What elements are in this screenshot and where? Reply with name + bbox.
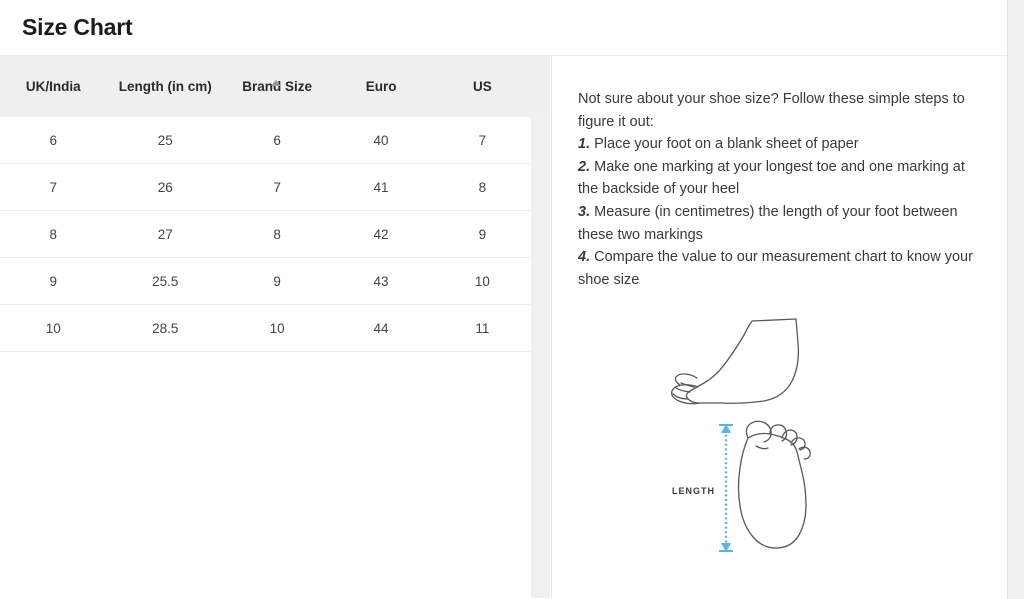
size-guide-text: Not sure about your shoe size? Follow th…: [578, 88, 979, 291]
size-guide-panel: Not sure about your shoe size? Follow th…: [552, 56, 1007, 598]
scrollbar-header-cap: [532, 56, 550, 117]
step-2-number: 2.: [578, 159, 590, 175]
table-row[interactable]: 7 26 7 41 8: [0, 164, 533, 211]
cell-us: 10: [432, 258, 533, 305]
cell-length: 25.5: [107, 258, 224, 305]
cell-euro: 44: [330, 305, 431, 352]
column-header-length: Length (in cm): [107, 56, 224, 117]
step-4-number: 4.: [578, 249, 590, 265]
table-row[interactable]: 9 25.5 9 43 10: [0, 258, 533, 305]
step-4-text: Compare the value to our measurement cha…: [578, 249, 973, 288]
cell-uk-india: 7: [0, 164, 107, 211]
page-title: Size Chart: [22, 16, 132, 39]
step-1-text: Place your foot on a blank sheet of pape…: [594, 136, 858, 152]
cell-us: 9: [432, 211, 533, 258]
cell-length: 27: [107, 211, 224, 258]
modal-body: UK/India Length (in cm) Brand Size Euro …: [0, 56, 1007, 598]
modal-header: Size Chart: [0, 0, 1007, 56]
cell-brand-size: 9: [224, 258, 331, 305]
step-3-text: Measure (in centimetres) the length of y…: [578, 204, 958, 243]
column-header-brand-size: Brand Size: [224, 56, 331, 117]
cell-brand-size: 6: [224, 117, 331, 164]
size-chart-page: Size Chart UK/India Length (in cm) Brand…: [0, 0, 1024, 599]
table-body: 6 25 6 40 7 7 26 7 41 8: [0, 117, 533, 352]
cell-uk-india: 6: [0, 117, 107, 164]
length-label: LENGTH: [672, 486, 715, 496]
foot-side-view-illustration: [664, 313, 894, 418]
size-table-panel: UK/India Length (in cm) Brand Size Euro …: [0, 56, 552, 598]
table-header-row: UK/India Length (in cm) Brand Size Euro …: [0, 56, 533, 117]
table-row[interactable]: 8 27 8 42 9: [0, 211, 533, 258]
size-chart-modal: Size Chart UK/India Length (in cm) Brand…: [0, 0, 1008, 599]
cell-length: 28.5: [107, 305, 224, 352]
step-1-number: 1.: [578, 136, 590, 152]
foot-measurement-diagram: LENGTH: [578, 313, 979, 558]
column-header-uk-india: UK/India: [0, 56, 107, 117]
cell-us: 7: [432, 117, 533, 164]
cell-length: 26: [107, 164, 224, 211]
size-guide-intro: Not sure about your shoe size? Follow th…: [578, 91, 965, 130]
cell-uk-india: 10: [0, 305, 107, 352]
table-scrollbar[interactable]: [531, 112, 550, 598]
column-header-us: US: [432, 56, 533, 117]
table-row[interactable]: 6 25 6 40 7: [0, 117, 533, 164]
cell-euro: 42: [330, 211, 431, 258]
step-2-text: Make one marking at your longest toe and…: [578, 159, 965, 198]
cell-uk-india: 9: [0, 258, 107, 305]
cell-brand-size: 8: [224, 211, 331, 258]
cell-us: 8: [432, 164, 533, 211]
cell-euro: 40: [330, 117, 431, 164]
cell-euro: 43: [330, 258, 431, 305]
step-3-number: 3.: [578, 204, 590, 220]
cell-uk-india: 8: [0, 211, 107, 258]
cell-length: 25: [107, 117, 224, 164]
cell-brand-size: 7: [224, 164, 331, 211]
table-row[interactable]: 10 28.5 10 44 11: [0, 305, 533, 352]
cell-euro: 41: [330, 164, 431, 211]
cell-us: 11: [432, 305, 533, 352]
size-table: UK/India Length (in cm) Brand Size Euro …: [0, 56, 533, 352]
foot-sole-view-illustration: LENGTH: [664, 418, 894, 558]
scroll-up-arrow-icon[interactable]: [271, 80, 281, 86]
cell-brand-size: 10: [224, 305, 331, 352]
column-header-euro: Euro: [330, 56, 431, 117]
